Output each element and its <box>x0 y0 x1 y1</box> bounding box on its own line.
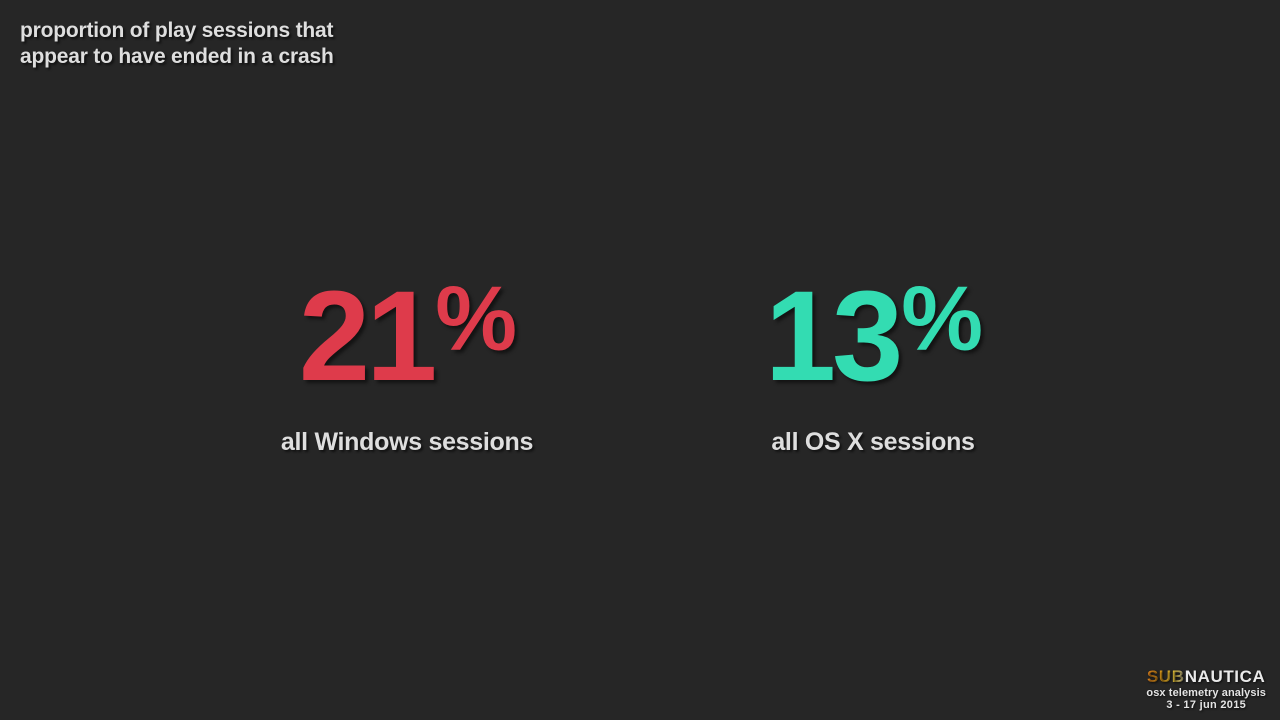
stats-row: 21 % all Windows sessions 13 % all OS X … <box>0 282 1280 482</box>
brand-footer: SUBNAUTICA osx telemetry analysis 3 - 17… <box>1146 668 1266 712</box>
stat-value-windows: 21 % <box>299 282 515 392</box>
stat-block-windows: 21 % all Windows sessions <box>212 282 602 457</box>
stat-label-osx: all OS X sessions <box>771 428 974 457</box>
stat-block-osx: 13 % all OS X sessions <box>678 282 1068 457</box>
logo-text-sub: SUB <box>1147 667 1185 686</box>
stat-unit-osx: % <box>901 280 981 359</box>
logo-text-nautica: NAUTICA <box>1185 667 1266 686</box>
stat-number-osx: 13 <box>765 282 899 392</box>
brand-subtitle: osx telemetry analysis <box>1146 687 1266 700</box>
stat-value-osx: 13 % <box>765 282 981 392</box>
stat-unit-windows: % <box>435 280 515 359</box>
page-title-line-1: proportion of play sessions that <box>20 18 334 44</box>
page-title: proportion of play sessions that appear … <box>20 18 334 71</box>
subnautica-logo: SUBNAUTICA <box>1146 668 1266 686</box>
page-title-line-2: appear to have ended in a crash <box>20 44 334 70</box>
stat-label-windows: all Windows sessions <box>281 428 533 457</box>
brand-date-range: 3 - 17 jun 2015 <box>1146 699 1266 712</box>
stat-number-windows: 21 <box>299 282 433 392</box>
